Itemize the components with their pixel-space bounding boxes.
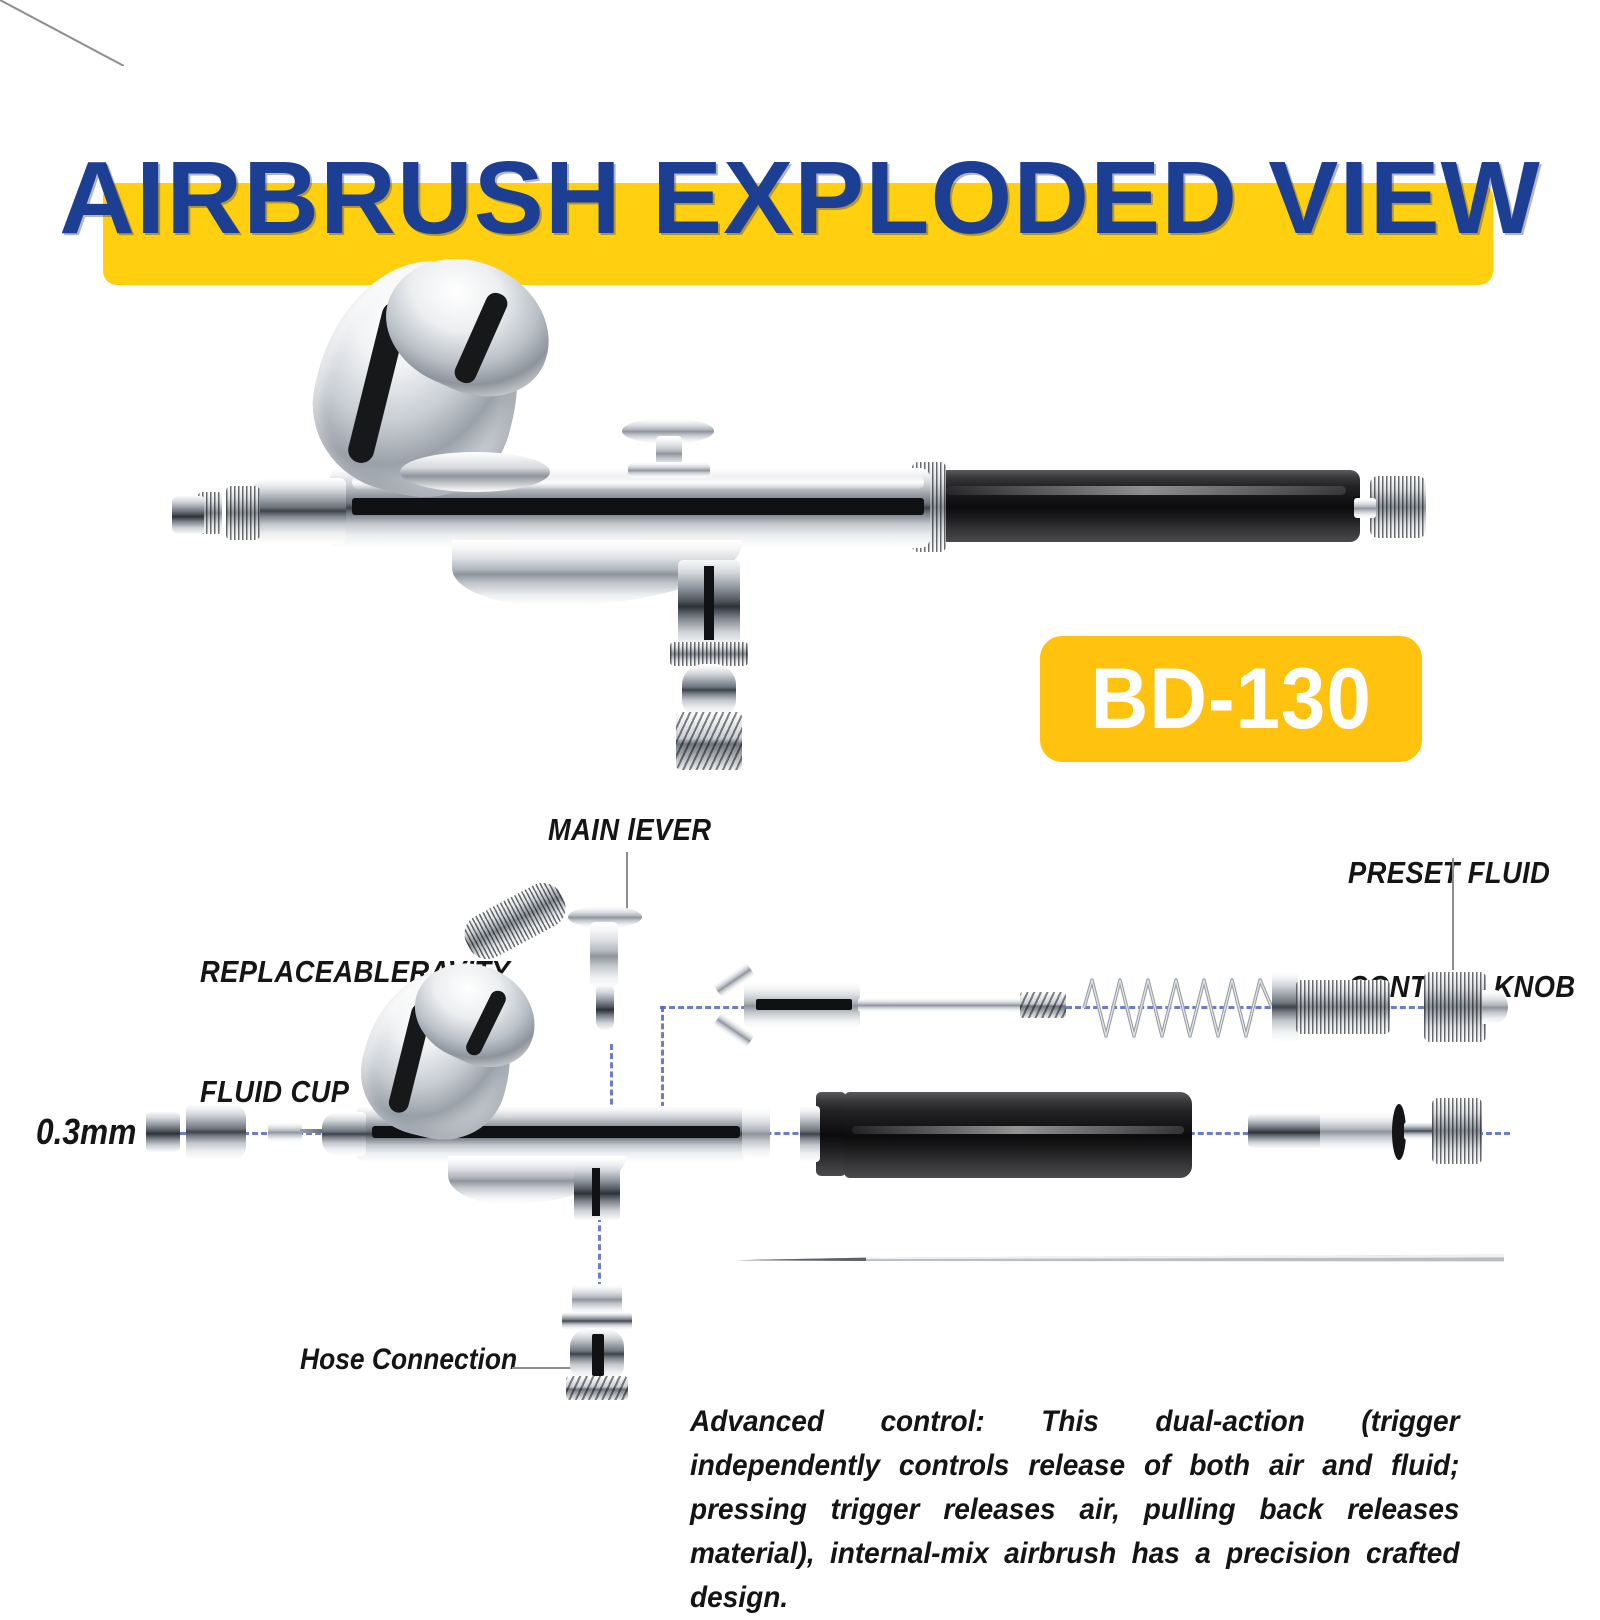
exploded-black-handle — [844, 1092, 1192, 1178]
main-lever-stem — [590, 922, 618, 988]
barrel-shadow-stripe — [352, 498, 924, 515]
page-title: AIRBRUSH EXPLODED VIEW — [0, 146, 1600, 249]
hose-fitting-stripe — [592, 1334, 604, 1376]
air-valve-waist — [682, 664, 736, 716]
handle-socket-ring — [800, 1106, 820, 1162]
hose-connection-thread — [676, 712, 742, 770]
cup-base-joint — [400, 452, 550, 492]
hose-fitting-thread — [566, 1376, 628, 1400]
handle-black — [940, 470, 1360, 542]
chucking-guide-thread — [1020, 992, 1066, 1018]
leader-line-fluid-cup — [0, 0, 124, 66]
exploded-body-front — [322, 1112, 366, 1156]
preset-knob-rear — [1370, 476, 1426, 538]
airbrush-needle — [736, 1248, 1504, 1270]
poster-canvas: AIRBRUSH EXPLODED VIEW — [0, 0, 1600, 1600]
trigger-lever-base — [628, 462, 710, 478]
needle-chuck-shaft — [1248, 1114, 1324, 1148]
title-block: AIRBRUSH EXPLODED VIEW — [0, 70, 1600, 235]
needle-chuck-mid — [1320, 1112, 1398, 1150]
exploded-handle-highlight — [852, 1126, 1184, 1134]
spring-guide-flange — [1272, 972, 1298, 1042]
model-badge: BD-130 — [1040, 636, 1422, 762]
leader-line-preset-knob — [1452, 858, 1454, 970]
needle-spring — [1080, 968, 1280, 1048]
chucking-guide-stripe — [756, 999, 852, 1010]
front-taper — [250, 478, 346, 544]
front-knurled-collar — [226, 486, 260, 540]
model-badge-label: BD-130 — [1090, 656, 1371, 742]
label-preset-line1: PRESET FLUID — [1348, 854, 1576, 892]
leader-line-main-lever — [626, 852, 628, 914]
nozzle — [268, 1122, 302, 1142]
guide-line-hose-drop — [598, 1216, 601, 1288]
label-hose-connection: Hose Connection — [300, 1343, 517, 1377]
handle-rear-socket — [742, 1108, 770, 1158]
needle-chuck-knob — [1432, 1098, 1482, 1164]
knob-shaft — [1354, 498, 1376, 518]
exploded-handle-collar — [816, 1092, 846, 1176]
preset-fluid-control-knob — [1424, 972, 1486, 1042]
crown-cap — [186, 1104, 246, 1160]
label-nozzle-size: 0.3mm — [36, 1112, 136, 1152]
nozzle-cap — [172, 496, 204, 534]
hose-fitting-top — [572, 1284, 622, 1314]
exploded-valve-stripe — [592, 1168, 600, 1216]
label-main-lever: MAIN lEVER — [548, 812, 712, 848]
preset-knob-tip — [1482, 990, 1508, 1024]
handle-highlight — [946, 486, 1346, 495]
description-paragraph: Advanced control: This dual-action (trig… — [690, 1400, 1460, 1620]
main-lever-foot — [596, 986, 614, 1030]
air-valve-collar — [670, 642, 748, 666]
air-valve-stripe — [704, 566, 714, 640]
chucking-guide-rod — [858, 998, 1044, 1012]
nozzle-cap-small — [146, 1112, 180, 1152]
spring-guide-body — [1296, 980, 1390, 1034]
